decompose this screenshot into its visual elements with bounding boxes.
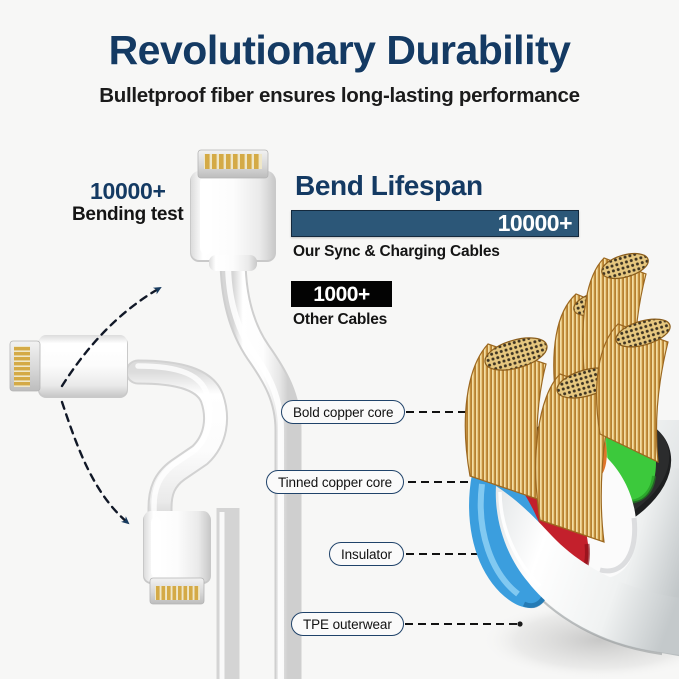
connector-pins-top — [204, 154, 262, 169]
callout-bold-copper-core: Bold copper core — [281, 400, 405, 424]
bar-other-cables-caption: Other Cables — [293, 311, 387, 329]
bar-our-cables: 10000+ — [291, 210, 579, 237]
copper-bundle-green — [597, 314, 674, 462]
lightning-connector-bottom — [143, 508, 228, 679]
connector-pins-left — [14, 346, 30, 387]
bar-our-cables-caption: Our Sync & Charging Cables — [293, 243, 500, 261]
bending-test-count: 10000+ — [90, 178, 166, 205]
page-title: Revolutionary Durability — [0, 27, 679, 74]
bending-arrow-down — [62, 402, 128, 523]
copper-bundle-white — [536, 362, 619, 542]
bar-other-cables-value: 1000+ — [313, 284, 369, 305]
callout-tinned-copper-core: Tinned copper core — [266, 470, 404, 494]
lightning-connector-top — [190, 150, 288, 679]
connector-pins-bottom — [155, 586, 200, 600]
lightning-connector-left — [10, 335, 216, 530]
callout-leader-lines — [405, 412, 520, 624]
callout-tpe-outerwear: TPE outerwear — [291, 612, 404, 636]
bend-lifespan-title: Bend Lifespan — [295, 170, 483, 202]
product-infographic: Revolutionary Durability Bulletproof fib… — [0, 0, 679, 679]
copper-bundle-top — [583, 249, 651, 404]
copper-bundle-blue — [465, 332, 550, 500]
conductor-white — [527, 431, 636, 579]
copper-bundle-orange — [554, 286, 625, 436]
bar-our-cables-value: 10000+ — [498, 212, 578, 235]
bending-arrow-up — [62, 288, 160, 386]
bending-test-label: Bending test — [72, 204, 183, 226]
conductor-red — [499, 438, 589, 587]
conductor-orange — [555, 392, 607, 482]
conductor-blue — [469, 458, 551, 607]
conductor-green — [598, 416, 656, 502]
page-subtitle: Bulletproof fiber ensures long-lasting p… — [0, 84, 679, 108]
cable-cross-section — [464, 249, 679, 679]
callout-insulator: Insulator — [329, 542, 404, 566]
bar-other-cables: 1000+ — [291, 281, 392, 307]
